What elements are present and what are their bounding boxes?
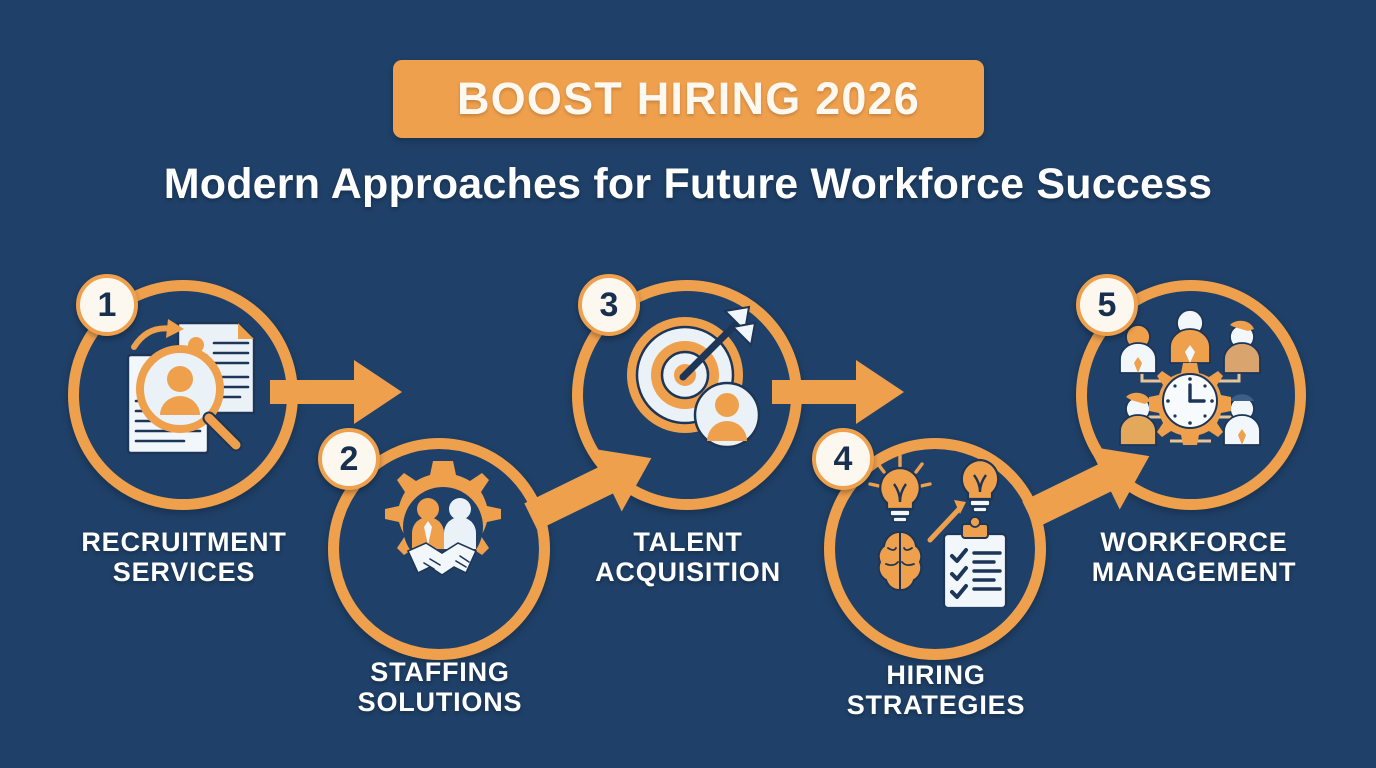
- step-5-badge: 5: [1076, 274, 1138, 336]
- page-subtitle: Modern Approaches for Future Workforce S…: [0, 160, 1376, 209]
- step-4-number: 4: [834, 440, 853, 479]
- step-1-label-line1: RECRUITMENT: [14, 527, 354, 557]
- step-2-label-line2: SOLUTIONS: [270, 687, 610, 717]
- banner-title: BOOST HIRING 2026: [393, 60, 984, 138]
- banner-title-text: BOOST HIRING 2026: [457, 73, 920, 125]
- target-arrow-person-icon: [615, 305, 775, 465]
- step-4-label-line2: STRATEGIES: [766, 690, 1106, 720]
- step-1-label-line2: SERVICES: [14, 557, 354, 587]
- step-2-number: 2: [340, 440, 359, 479]
- step-1-badge: 1: [76, 274, 138, 336]
- step-3-number: 3: [600, 286, 619, 325]
- step-4-label-line1: HIRING: [766, 660, 1106, 690]
- step-2-label: STAFFING SOLUTIONS: [270, 657, 610, 717]
- step-1-label: RECRUITMENT SERVICES: [14, 527, 354, 587]
- step-2-label-line1: STAFFING: [270, 657, 610, 687]
- resume-magnifier-icon: [110, 305, 280, 475]
- brain-bulb-checklist-icon: [858, 452, 1018, 607]
- infographic-canvas: BOOST HIRING 2026 Modern Approaches for …: [0, 0, 1376, 768]
- arrow-3-to-4: [770, 352, 910, 432]
- step-5-label-line2: MANAGEMENT: [1024, 557, 1364, 587]
- step-4-label: HIRING STRATEGIES: [766, 660, 1106, 720]
- team-gear-clock-icon: [1108, 305, 1273, 470]
- step-3-badge: 3: [578, 274, 640, 336]
- step-1-number: 1: [98, 286, 117, 325]
- step-2-badge: 2: [318, 428, 380, 490]
- gear-handshake-icon: [368, 455, 518, 605]
- arrow-1-to-2: [268, 352, 408, 432]
- step-3-label-line2: ACQUISITION: [518, 557, 858, 587]
- step-4-badge: 4: [812, 428, 874, 490]
- step-5-number: 5: [1098, 286, 1117, 325]
